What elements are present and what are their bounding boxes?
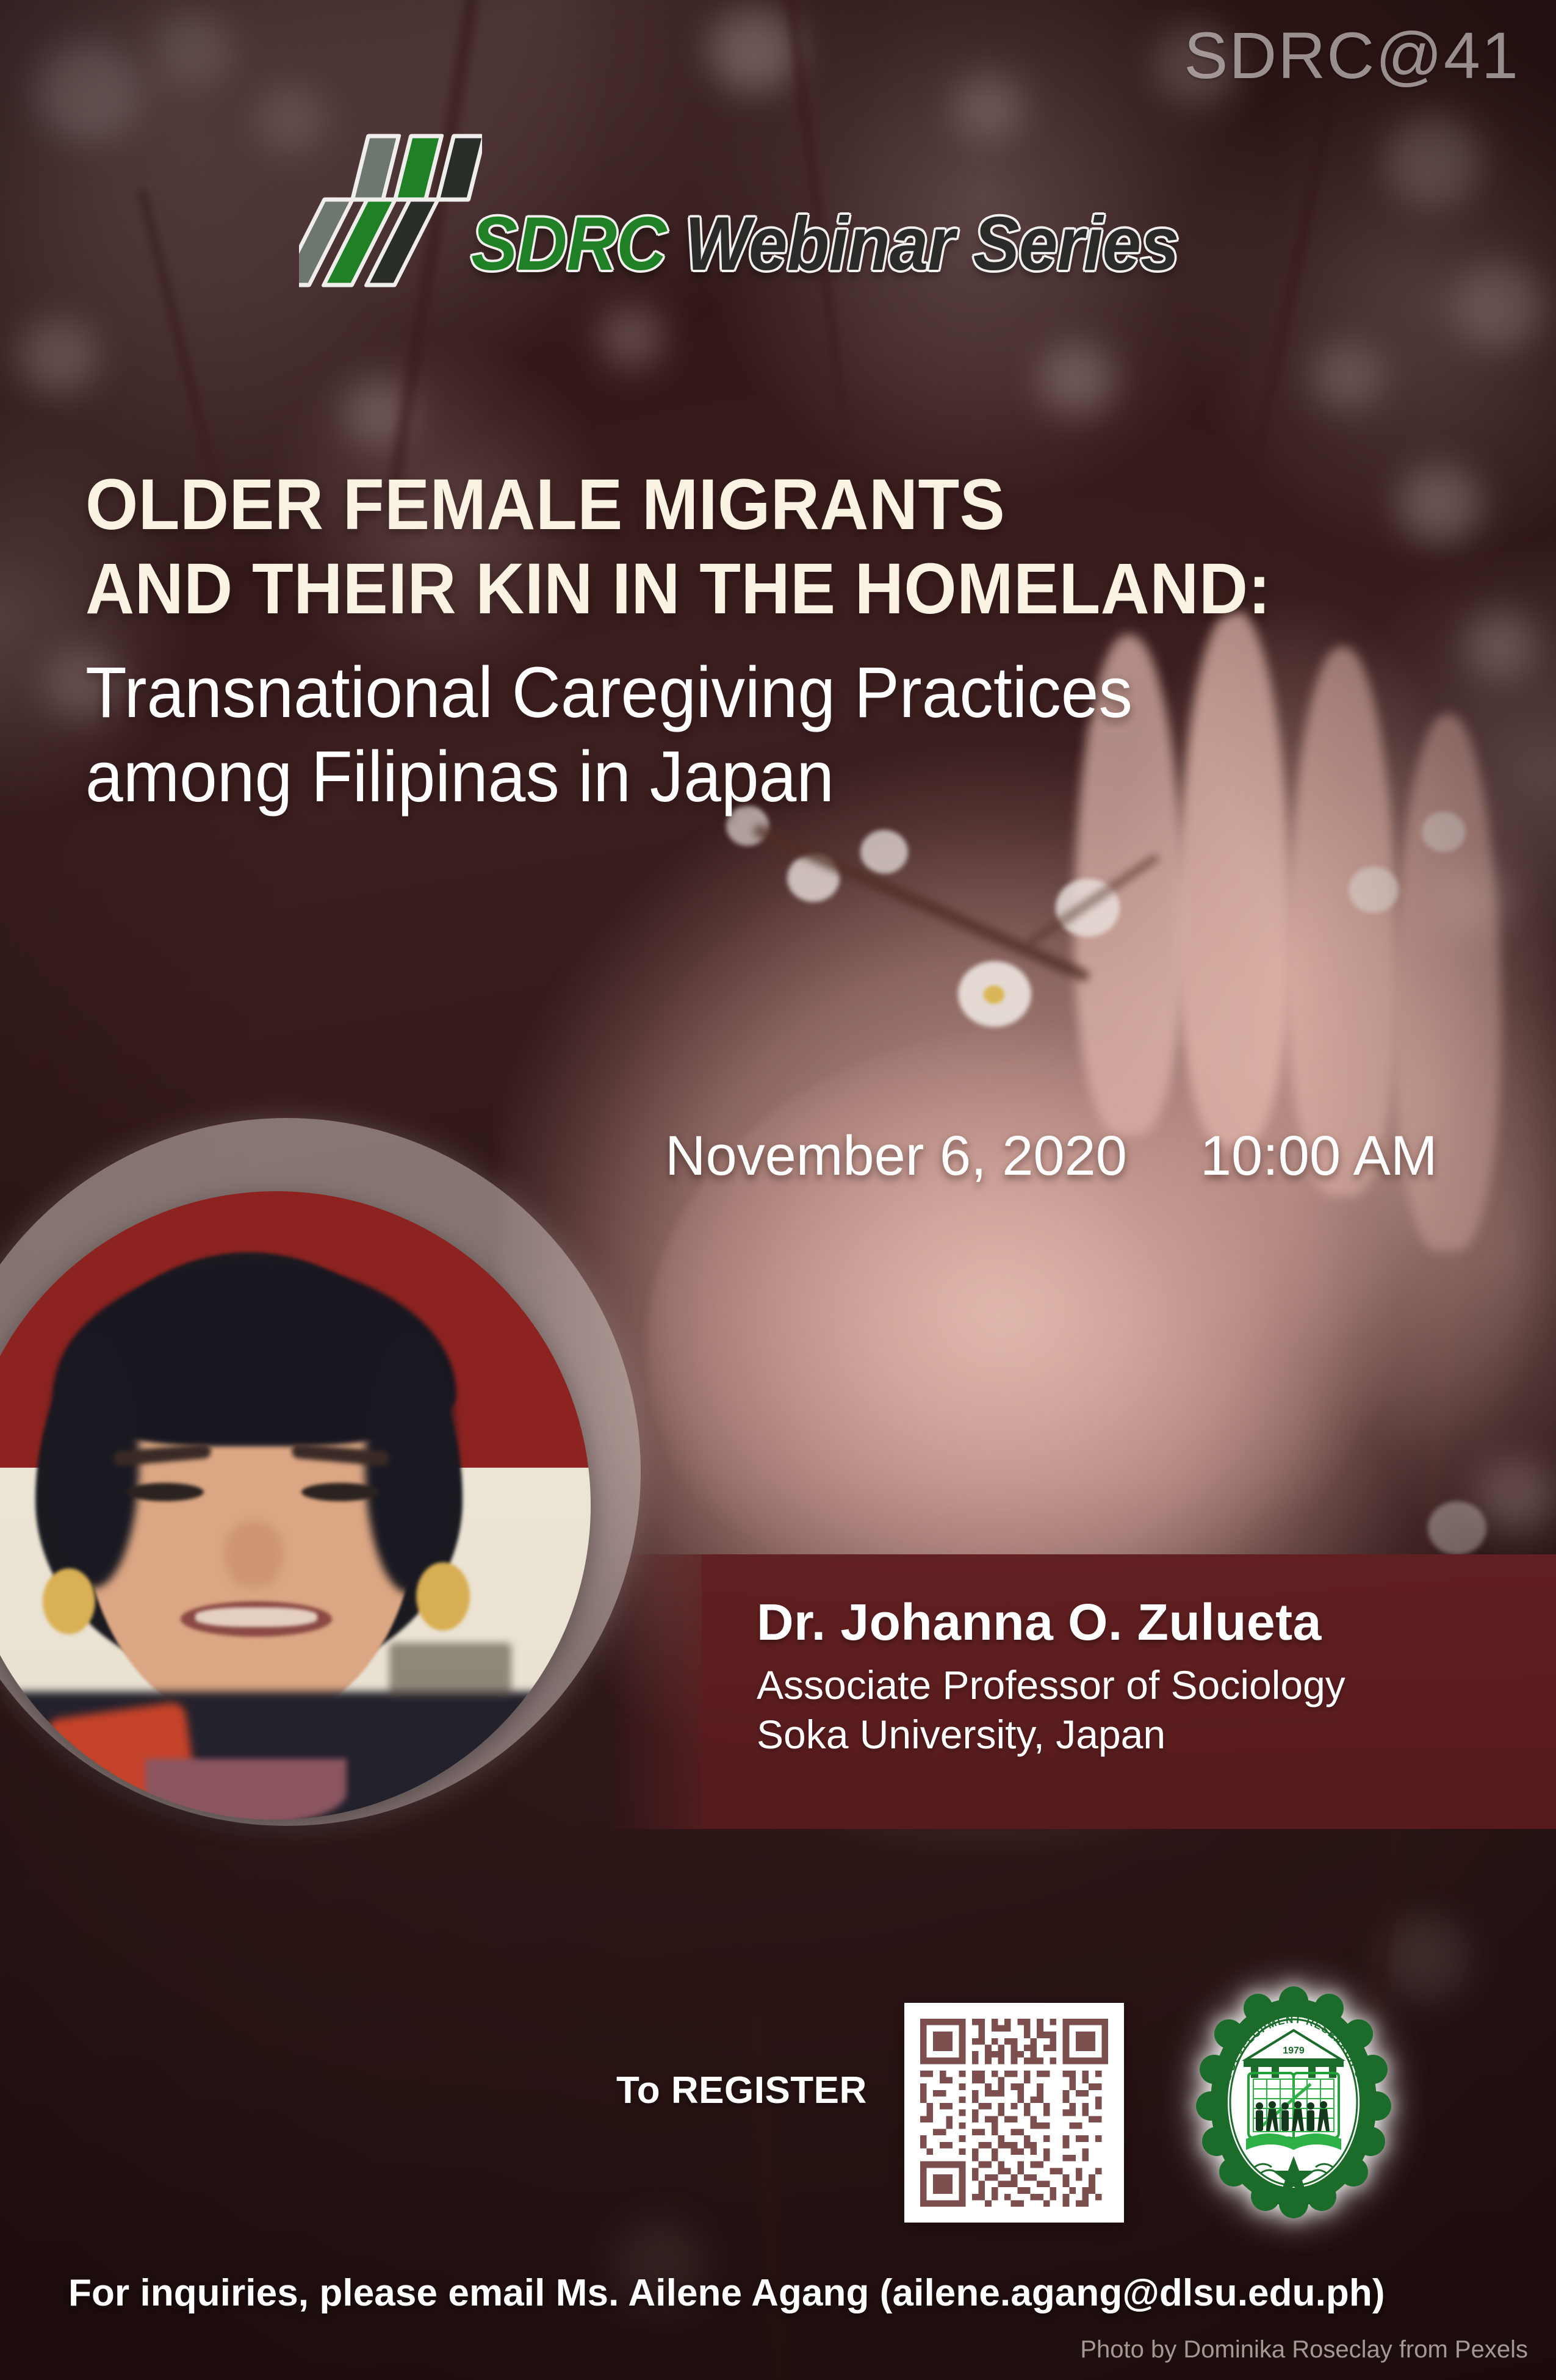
webinar-poster: SDRC@41 SDRC Webinar Series OLDER FEMALE…: [0, 0, 1556, 2380]
nose: [225, 1521, 283, 1588]
background-sign: [389, 1643, 511, 1698]
eye: [126, 1483, 204, 1501]
svg-text:1979: 1979: [1283, 2046, 1305, 2056]
event-date: November 6, 2020: [665, 1124, 1127, 1188]
inquiries-text: For inquiries, please email Ms. Ailene A…: [68, 2271, 1385, 2315]
sdrc-wordmark: SDRC Webinar Series: [471, 201, 1179, 287]
page-title: OLDER FEMALE MIGRANTS AND THEIR KIN IN T…: [85, 463, 1464, 819]
speaker-affiliation: Soka University, Japan: [757, 1710, 1525, 1759]
subtitle-line-2: among Filipinas in Japan: [85, 735, 1381, 819]
wordmark-webinar-series: Webinar Series: [666, 202, 1179, 286]
title-line-2: AND THEIR KIN IN THE HOMELAND:: [85, 547, 1381, 631]
earring: [43, 1568, 95, 1634]
necklace: [145, 1759, 347, 1820]
registration-qr-code-icon[interactable]: [904, 2003, 1124, 2223]
earring: [416, 1562, 470, 1631]
speaker-name: Dr. Johanna O. Zulueta: [757, 1593, 1525, 1652]
brand-lockup: SDRC Webinar Series: [299, 125, 1256, 314]
photo-credit: Photo by Dominika Roseclay from Pexels: [1080, 2336, 1528, 2364]
sdrc-parallelogram-logo-icon: [299, 125, 482, 314]
event-schedule: November 6, 2020 10:00 AM: [665, 1124, 1438, 1188]
event-time: 10:00 AM: [1200, 1124, 1438, 1188]
subtitle-line-1: Transnational Caregiving Practices: [85, 651, 1381, 735]
speaker-role: Associate Professor of Sociology: [757, 1661, 1525, 1710]
wordmark-sdrc: SDRC: [471, 202, 666, 286]
sdrc-official-seal-icon: SOCIAL DEVELOPMENT RESEARCH CENTER · DLS…: [1190, 1986, 1397, 2218]
eye: [301, 1483, 380, 1501]
register-label: To REGISTER: [616, 2069, 867, 2112]
title-line-1: OLDER FEMALE MIGRANTS: [85, 463, 1381, 547]
sdrc-anniversary-watermark: SDRC@41: [1184, 17, 1519, 93]
speaker-info: Dr. Johanna O. Zulueta Associate Profess…: [757, 1593, 1525, 1759]
speaker-portrait: [0, 1191, 591, 1820]
teeth: [195, 1607, 317, 1627]
